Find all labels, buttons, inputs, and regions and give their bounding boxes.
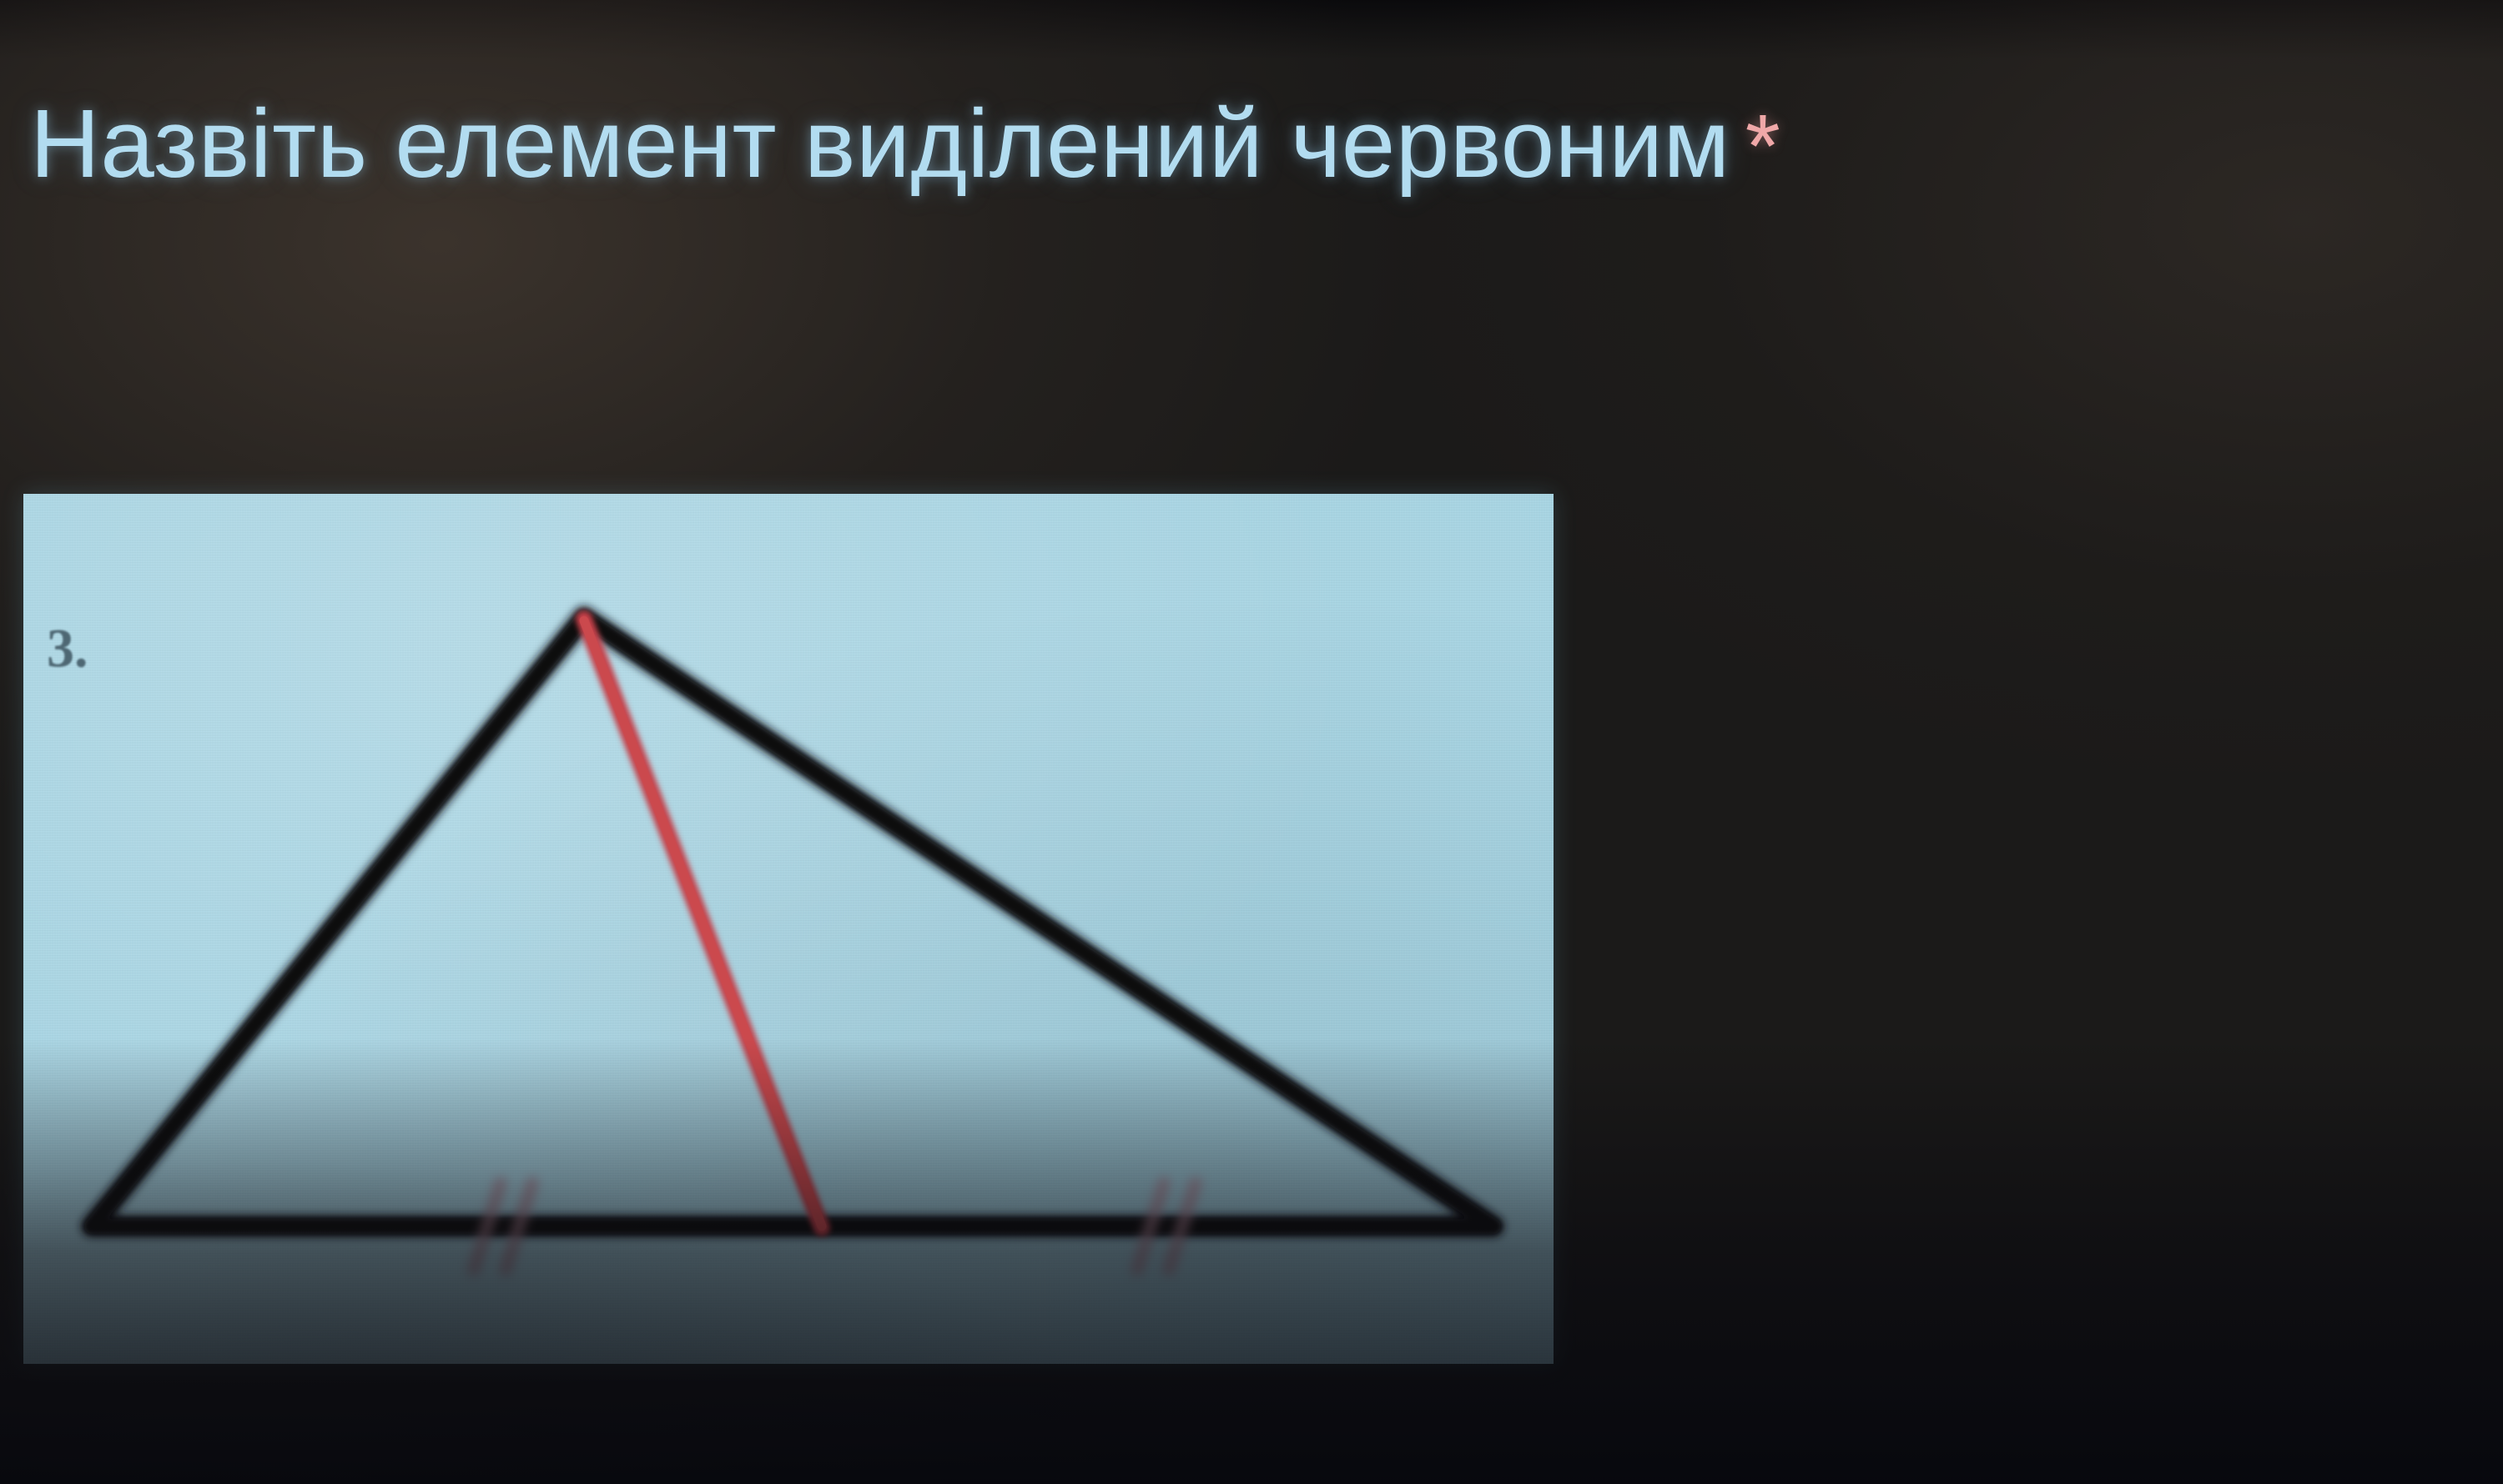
- paper-texture-overlay: [23, 494, 1554, 1364]
- question-title-text: Назвіть елемент виділений червоним: [30, 89, 1730, 198]
- question-title: Назвіть елемент виділений червоним*: [30, 90, 2450, 199]
- screen-top-shade: [0, 0, 2503, 59]
- required-asterisk: *: [1745, 95, 1781, 196]
- figure-image-panel: [23, 494, 1554, 1364]
- presentation-slide: Назвіть елемент виділений червоним*: [0, 0, 2503, 1484]
- figure-number-label: 3.: [47, 617, 88, 681]
